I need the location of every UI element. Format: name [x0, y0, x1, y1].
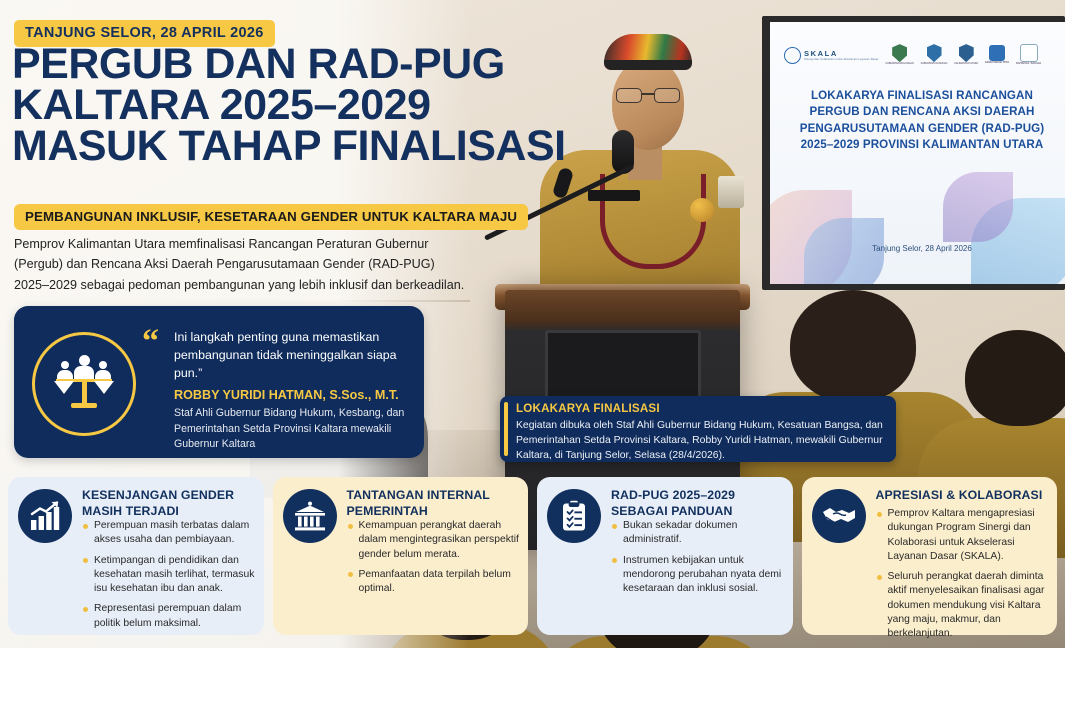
province-crest-icon	[959, 44, 974, 62]
regency-crest-icon-2	[927, 44, 942, 62]
info-card-bullets: Perempuan masih terbatas dalam akses usa…	[82, 519, 257, 637]
list-item: Pemprov Kaltara mengapresiasi dukungan P…	[876, 507, 1051, 564]
audience-head	[790, 290, 916, 402]
headline-line-1: PERGUB DAN RAD-PUG	[12, 44, 572, 85]
partner-logo-2: KABUPATEN NUNUKAN	[921, 44, 948, 66]
quote-author-name: ROBBY YURIDI HATMAN, S.Sos., M.T.	[174, 388, 414, 402]
government-building-icon	[283, 489, 337, 543]
page-title: PERGUB DAN RAD-PUG KALTARA 2025–2029 MAS…	[12, 44, 572, 167]
glasses-lens-left	[616, 88, 642, 103]
speaker-beaded-necklace	[600, 174, 706, 269]
infographic-canvas: SKALA Sinergi dan Kolaborasi untuk Aksel…	[0, 0, 1065, 719]
list-item: Perempuan masih terbatas dalam akses usa…	[82, 519, 257, 548]
quote-text: Ini langkah penting guna memastikan pemb…	[174, 328, 406, 382]
info-card-title: APRESIASI & KOLABORASI	[876, 488, 1050, 504]
figure-body-center	[74, 366, 94, 380]
info-card-bullets: Pemprov Kaltara mengapresiasi dukungan P…	[876, 507, 1051, 647]
figure-head-center	[79, 355, 90, 366]
info-card-rad-pug-panduan: RAD-PUG 2025–2029 SEBAGAI PANDUAN Bukan …	[537, 477, 793, 635]
info-card-title: KESENJANGAN GENDER MASIH TERJADI	[82, 488, 256, 519]
scale-pan-right	[94, 381, 114, 394]
screen-decor-leaf-4	[943, 172, 1013, 242]
info-cards-row: KESENJANGAN GENDER MASIH TERJADI Perempu…	[8, 477, 1057, 635]
list-item: Pemanfaatan data terpilah belum optimal.	[347, 568, 522, 597]
headline-line-2: KALTARA 2025–2029	[12, 85, 572, 126]
screen-slide-title: LOKAKARYA FINALISASI RANCANGAN PERGUB DA…	[786, 88, 1058, 154]
quote-author-role: Staf Ahli Gubernur Bidang Hukum, Kesbang…	[174, 406, 414, 453]
footer: “ Ini bukan sekadar dokumen, tapi alat u…	[0, 648, 1065, 719]
quote-open-mark: “	[142, 328, 159, 355]
skala-logo-subtext: Sinergi dan Kolaborasi untuk Akselerasi …	[804, 58, 879, 61]
partner-logo-3-caption: KALIMANTAN UTARA	[954, 63, 978, 66]
scale-post	[82, 379, 87, 405]
ministry-logo-icon	[989, 45, 1005, 61]
lokakarya-title: LOKAKARYA FINALISASI	[516, 402, 660, 415]
projector-screen: SKALA Sinergi dan Kolaborasi untuk Aksel…	[770, 22, 1065, 284]
glasses-lens-right	[654, 88, 680, 103]
scale-base	[71, 403, 97, 408]
regency-crest-icon	[892, 44, 907, 62]
list-item: Bukan sekadar dokumen administratif.	[611, 519, 786, 548]
screen-slide-date: Tanjung Selor, 28 April 2026	[786, 244, 1058, 253]
audience-head	[965, 330, 1065, 426]
bangda-logo-icon	[1020, 44, 1038, 62]
bar-chart-growth-icon	[18, 489, 72, 543]
partner-logo-5-caption: BAPPENAS / BANGDA	[1016, 63, 1041, 66]
glasses-bridge	[641, 93, 654, 95]
list-item: Representasi perempuan dalam politik bel…	[82, 602, 257, 631]
partner-logo-1: KABUPATEN BULUNGAN	[886, 44, 914, 66]
partner-logo-3: KALIMANTAN UTARA	[954, 44, 978, 66]
info-card-bullets: Kemampuan perangkat daerah dalam mengint…	[347, 519, 522, 602]
info-card-title: TANTANGAN INTERNAL PEMERINTAH	[347, 488, 521, 519]
list-item: Seluruh perangkat daerah diminta aktif m…	[876, 570, 1051, 641]
skala-logo: SKALA Sinergi dan Kolaborasi untuk Aksel…	[784, 47, 879, 64]
speaker-name-tag	[588, 190, 640, 201]
partner-logo-5: BAPPENAS / BANGDA	[1016, 44, 1041, 66]
speaker-shoulder-patch	[718, 176, 744, 208]
partner-logo-4-caption: KEMENTERIAN PPPA	[985, 62, 1009, 65]
accent-bar	[504, 402, 508, 456]
figure-head-right	[99, 361, 107, 369]
speaker-traditional-cap	[604, 34, 692, 70]
info-card-tantangan-internal: TANTANGAN INTERNAL PEMERINTAH Kemampuan …	[273, 477, 529, 635]
list-item: Kemampuan perangkat daerah dalam mengint…	[347, 519, 522, 562]
list-item: Instrumen kebijakan untuk mendorong peru…	[611, 554, 786, 597]
quote-card: “ Ini langkah penting guna memastikan pe…	[14, 306, 424, 458]
skala-mark-icon	[784, 47, 801, 64]
partner-logo-1-caption: KABUPATEN BULUNGAN	[886, 63, 914, 66]
info-card-apresiasi-kolaborasi: APRESIASI & KOLABORASI Pemprov Kaltara m…	[802, 477, 1058, 635]
info-card-bullets: Bukan sekadar dokumen administratif. Ins…	[611, 519, 786, 602]
figure-head-left	[61, 361, 69, 369]
clipboard-checklist-icon	[547, 489, 601, 543]
handshake-icon	[812, 489, 866, 543]
partner-logo-4: KEMENTERIAN PPPA	[985, 45, 1009, 65]
partner-logo-2-caption: KABUPATEN NUNUKAN	[921, 63, 948, 66]
speaker-glasses-icon	[616, 88, 680, 102]
list-item: Ketimpangan di pendidikan dan kesehatan …	[82, 554, 257, 597]
info-card-title: RAD-PUG 2025–2029 SEBAGAI PANDUAN	[611, 488, 785, 519]
screen-partner-logos: SKALA Sinergi dan Kolaborasi untuk Aksel…	[784, 38, 1060, 72]
scales-of-justice-icon	[32, 332, 136, 436]
headline-line-3: MASUK TAHAP FINALISASI	[12, 126, 572, 167]
lokakarya-card: LOKAKARYA FINALISASI Kegiatan dibuka ole…	[500, 396, 896, 462]
info-card-kesenjangan-gender: KESENJANGAN GENDER MASIH TERJADI Perempu…	[8, 477, 264, 635]
speaker-medallion	[690, 198, 714, 222]
skala-logo-text: SKALA	[804, 49, 879, 58]
subtitle-badge: PEMBANGUNAN INKLUSIF, KESETARAAN GENDER …	[14, 204, 528, 230]
lede-paragraph: Pemprov Kalimantan Utara memfinalisasi R…	[14, 234, 466, 295]
scale-pan-left	[54, 381, 74, 394]
lokakarya-body: Kegiatan dibuka oleh Staf Ahli Gubernur …	[516, 418, 884, 462]
